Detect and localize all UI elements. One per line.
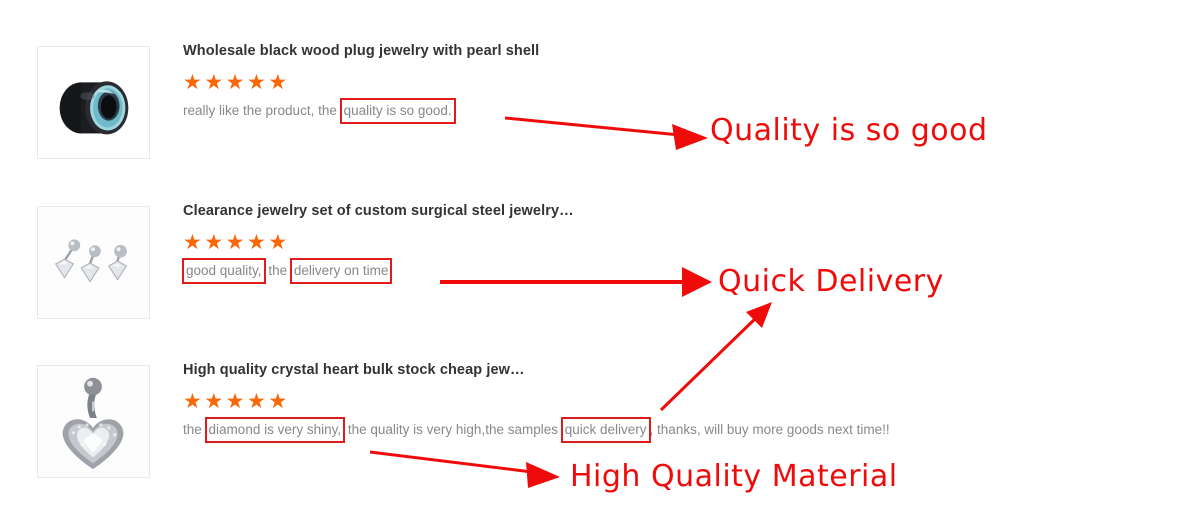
star-icon: ★ xyxy=(183,391,204,413)
star-icon: ★ xyxy=(204,232,225,254)
star-icon: ★ xyxy=(247,72,268,94)
highlighted-phrase: quality is so good. xyxy=(342,100,454,122)
review-highlights-page: Wholesale black wood plug jewelry with p… xyxy=(0,0,1200,532)
highlighted-phrase: good quality, xyxy=(184,260,264,282)
star-icon: ★ xyxy=(183,72,204,94)
star-icon: ★ xyxy=(226,72,247,94)
star-icon: ★ xyxy=(268,232,289,254)
highlighted-phrase: delivery on time xyxy=(292,260,391,282)
crystal-heart-belly-ring-icon xyxy=(38,366,149,477)
product-thumbnail-heart-belly-ring[interactable] xyxy=(37,365,150,478)
review-body: Clearance jewelry set of custom surgical… xyxy=(183,202,1183,281)
highlighted-phrase: diamond is very shiny, xyxy=(207,419,344,441)
review-text-segment: really like the product, the xyxy=(183,103,337,118)
star-icon: ★ xyxy=(247,232,268,254)
review-text-segment: the quality is very high,the samples xyxy=(348,422,558,437)
review-body: High quality crystal heart bulk stock ch… xyxy=(183,361,1183,440)
star-icon: ★ xyxy=(204,72,225,94)
review-text-segment: the xyxy=(183,422,202,437)
annotation-high-quality-material: High Quality Material xyxy=(570,459,898,494)
product-title[interactable]: Wholesale black wood plug jewelry with p… xyxy=(183,42,1183,61)
review-body: Wholesale black wood plug jewelry with p… xyxy=(183,42,1183,121)
product-thumbnail-black-wood-plug[interactable] xyxy=(37,46,150,159)
star-icon: ★ xyxy=(268,72,289,94)
product-title[interactable]: Clearance jewelry set of custom surgical… xyxy=(183,202,1183,221)
review-text-segment: , thanks, will buy more goods next time!… xyxy=(650,422,890,437)
annotation-quick-delivery: Quick Delivery xyxy=(718,264,944,299)
annotation-arrow-1 xyxy=(505,118,708,150)
review-text: really like the product, the quality is … xyxy=(183,100,1183,121)
black-wood-plug-icon xyxy=(38,47,149,158)
star-icon: ★ xyxy=(183,232,204,254)
review-text: good quality, the delivery on time xyxy=(183,260,1183,281)
star-icon: ★ xyxy=(204,391,225,413)
star-rating: ★★★★★ xyxy=(183,391,1183,413)
star-icon: ★ xyxy=(226,391,247,413)
star-icon: ★ xyxy=(247,391,268,413)
review-text-segment: the xyxy=(268,263,287,278)
highlighted-phrase: quick delivery xyxy=(563,419,649,441)
star-rating: ★★★★★ xyxy=(183,232,1183,254)
product-title[interactable]: High quality crystal heart bulk stock ch… xyxy=(183,361,1183,380)
star-icon: ★ xyxy=(268,391,289,413)
review-text: the diamond is very shiny, the quality i… xyxy=(183,419,928,440)
product-thumbnail-stud-earring-set[interactable] xyxy=(37,206,150,319)
star-icon: ★ xyxy=(226,232,247,254)
star-rating: ★★★★★ xyxy=(183,72,1183,94)
annotation-quality-is-so-good: Quality is so good xyxy=(710,113,988,148)
annotation-arrow-4 xyxy=(370,452,560,488)
crystal-stud-earring-set-icon xyxy=(38,207,149,318)
